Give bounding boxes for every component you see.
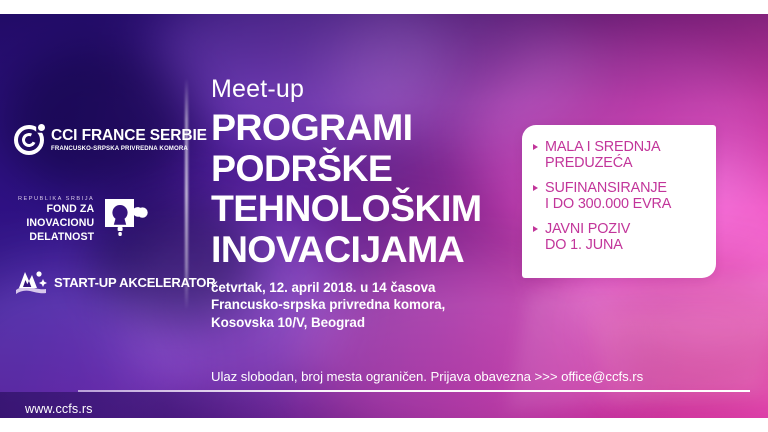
event-address: Kosovska 10/V, Beograd [211, 314, 445, 331]
highlight-2-line-2: I DO 300.000 EVRA [545, 196, 716, 212]
kicker-meet-up: Meet-up [211, 77, 304, 102]
logo-start-up-akcelerator: START-UP AKCELERATOR [14, 269, 215, 295]
highlights-list: MALA I SREDNJA PREDUZEĆA SUFINANSIRANJE … [522, 125, 716, 254]
event-datetime: četvrtak, 12. april 2018. u 14 časova [211, 279, 445, 296]
highlight-2-line-1: SUFINANSIRANJE [545, 180, 667, 196]
headline-line-1: PROGRAMI [211, 107, 481, 148]
triangle-bullet-icon [533, 226, 538, 232]
event-venue: Francusko-srpska privredna komora, [211, 296, 445, 313]
headline-line-3: TEHNOLOŠKIM [211, 188, 481, 229]
startup-rocket-icon [14, 269, 48, 295]
registration-note: Ulaz slobodan, broj mesta ograničen. Pri… [211, 369, 643, 384]
event-banner: CCI FRANCE SERBIE FRANCUSKO-SRPSKA PRIVR… [0, 14, 768, 418]
logo-startup-title: START-UP AKCELERATOR [54, 275, 215, 290]
logo-cci-subtitle: FRANCUSKO-SRPSKA PRIVREDNA KOMORA [51, 146, 207, 152]
cci-circle-logo-icon [14, 125, 44, 155]
triangle-bullet-icon [533, 185, 538, 191]
website-url[interactable]: www.ccfs.rs [25, 402, 93, 416]
event-details: četvrtak, 12. april 2018. u 14 časova Fr… [211, 279, 445, 331]
logo-fond-za-inovacionu-delatnost: REPUBLIKA SRBIJA FOND ZA INOVACIONU DELA… [18, 195, 154, 245]
highlight-3-line-2: DO 1. JUNA [545, 237, 716, 253]
puzzle-lightbulb-icon [102, 195, 154, 245]
banner-root: CCI FRANCE SERBIE FRANCUSKO-SRPSKA PRIVR… [0, 0, 768, 432]
logo-column: CCI FRANCE SERBIE FRANCUSKO-SRPSKA PRIVR… [0, 14, 186, 418]
logo-cci-france-serbie: CCI FRANCE SERBIE FRANCUSKO-SRPSKA PRIVR… [14, 125, 207, 155]
triangle-bullet-icon [533, 144, 538, 150]
highlight-3-line-1: JAVNI POZIV [545, 221, 630, 237]
headline-line-4: INOVACIJAMA [211, 229, 481, 270]
highlight-1-line-2: PREDUZEĆA [545, 155, 716, 171]
list-item: MALA I SREDNJA PREDUZEĆA [533, 139, 716, 172]
highlights-callout: MALA I SREDNJA PREDUZEĆA SUFINANSIRANJE … [522, 125, 716, 278]
logo-fond-eyebrow: REPUBLIKA SRBIJA [18, 196, 94, 202]
highlight-1-line-1: MALA I SREDNJA [545, 139, 660, 155]
page-title: PROGRAMI PODRŠKE TEHNOLOŠKIM INOVACIJAMA [211, 107, 481, 270]
headline-line-2: PODRŠKE [211, 148, 481, 189]
logo-fond-line1: FOND ZA [18, 204, 94, 216]
list-item: JAVNI POZIV DO 1. JUNA [533, 221, 716, 254]
logo-fond-line2: INOVACIONU [18, 218, 94, 230]
list-item: SUFINANSIRANJE I DO 300.000 EVRA [533, 180, 716, 213]
logo-cci-title: CCI FRANCE SERBIE [51, 128, 207, 144]
logo-fond-line3: DELATNOST [18, 232, 94, 244]
